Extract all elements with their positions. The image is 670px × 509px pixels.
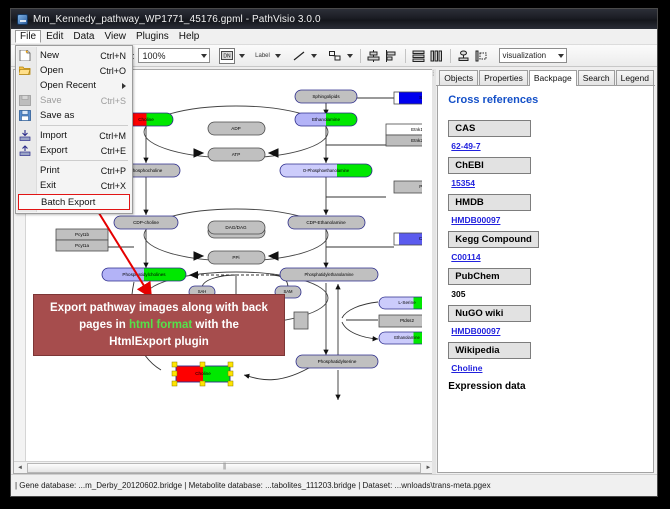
toolbar-separator-1: [360, 49, 361, 63]
file-menu-exit[interactable]: Exit Ctrl+X: [16, 178, 132, 193]
group-icon[interactable]: [474, 48, 490, 64]
zoom-combobox[interactable]: 100%: [138, 48, 210, 63]
file-menu-dropdown[interactable]: New Ctrl+N Open Ctrl+O Open Recent Save: [15, 45, 133, 214]
svg-text:ADP: ADP: [231, 126, 240, 131]
node-etnk1[interactable]: Etnk1: [386, 124, 422, 135]
chevron-down-icon: [201, 54, 207, 58]
tab-search[interactable]: Search: [578, 70, 615, 85]
svg-text:Ethanolamine: Ethanolamine: [312, 117, 341, 122]
xref-hmdb: HMDB HMDB00097: [448, 194, 645, 225]
tab-backpage[interactable]: Backpage: [529, 70, 577, 86]
file-menu-open[interactable]: Open Ctrl+O: [16, 63, 132, 78]
node-grey-box[interactable]: [294, 312, 308, 329]
tab-objects[interactable]: Objects: [439, 70, 478, 85]
xref-link[interactable]: HMDB00097: [451, 326, 500, 336]
svg-text:Phosphocholine: Phosphocholine: [130, 168, 163, 173]
node-l-serine[interactable]: L-Serine: [379, 297, 422, 309]
datanode-tool-split[interactable]: DN: [218, 48, 245, 64]
file-menu-import-shortcut: Ctrl+M: [99, 131, 126, 141]
xref-kegg-compound: Kegg Compound C00114: [448, 231, 645, 262]
line-tool-split[interactable]: [290, 48, 317, 64]
shape-icon[interactable]: [327, 48, 343, 64]
visualization-value: visualization: [503, 51, 547, 60]
file-menu-new-label: New: [40, 50, 100, 61]
file-menu-save-shortcut: Ctrl+S: [101, 96, 126, 106]
xref-value[interactable]: HMDB00097: [451, 326, 645, 336]
node-o-phosphoethanolamine[interactable]: O-Phosphoethanolamine: [280, 164, 372, 177]
node-phosphatidylethanolamine[interactable]: Phosphatidylethanolamine: [280, 268, 378, 281]
svg-text:L-Serine: L-Serine: [398, 300, 416, 305]
node-ptdss2[interactable]: Ptdss2: [379, 315, 422, 327]
file-menu-new-shortcut: Ctrl+N: [100, 51, 126, 61]
svg-text:Choline: Choline: [195, 371, 211, 376]
datanode-icon[interactable]: DN: [219, 48, 235, 64]
xref-source-label: CAS: [448, 120, 531, 137]
svg-text:Pcyt2: Pcyt2: [419, 184, 422, 189]
file-menu-batch-export-label: Batch Export: [41, 197, 123, 208]
file-menu-export-label: Export: [40, 145, 101, 156]
xref-wikipedia: Wikipedia Choline: [448, 342, 645, 373]
xref-value[interactable]: Choline: [451, 363, 645, 373]
annotation-line-2-post: with the: [192, 319, 239, 331]
xref-cas: CAS 62-49-7: [448, 120, 645, 151]
xref-source-label: HMDB: [448, 194, 531, 211]
svg-text:DN: DN: [223, 54, 231, 60]
visualization-combobox[interactable]: visualization: [499, 48, 567, 63]
node-pcyt1b[interactable]: Pcyt1b: [56, 229, 108, 240]
file-menu-print-label: Print: [40, 165, 101, 176]
file-menu-open-recent[interactable]: Open Recent: [16, 78, 132, 93]
node-ethanolamine[interactable]: Ethanolamine: [295, 113, 357, 126]
menu-plugins[interactable]: Plugins: [131, 30, 174, 43]
line-chevron-down-icon[interactable]: [311, 54, 317, 58]
svg-text:CDP-choline: CDP-choline: [133, 220, 159, 225]
node-cdp-ethanolamine[interactable]: CDP-Ethanolamine: [288, 216, 365, 229]
svg-text:Pcyt1b: Pcyt1b: [75, 232, 89, 237]
node-pcyt2[interactable]: Pcyt2: [394, 181, 422, 193]
annotation-line-3: HtmlExport plugin: [109, 334, 209, 351]
submenu-chevron-right-icon: [122, 83, 126, 89]
svg-text:Phosphatidylethanolamine: Phosphatidylethanolamine: [304, 272, 354, 277]
align-center-icon[interactable]: [366, 48, 382, 64]
file-menu-save-label: Save: [40, 95, 101, 106]
zoom-value: 100%: [143, 51, 166, 61]
menubar: File Edit Data View Plugins Help: [11, 29, 657, 45]
xref-source-label: Kegg Compound: [448, 231, 539, 248]
node-atp[interactable]: ATP: [208, 148, 265, 161]
svg-text:Sphingolipids: Sphingolipids: [312, 94, 340, 99]
import-icon: [19, 130, 31, 141]
xref-nugo-wiki: NuGO wiki HMDB00097: [448, 305, 645, 336]
datanode-chevron-down-icon[interactable]: [239, 54, 245, 58]
file-menu-exit-label: Exit: [40, 180, 101, 191]
new-document-icon: [19, 50, 31, 61]
window-titlebar: Mm_Kennedy_pathway_WP1771_45176.gpml - P…: [11, 9, 657, 29]
annotation-line-1: Export pathway images along with back: [50, 300, 268, 317]
file-menu-save: Save Ctrl+S: [16, 93, 132, 108]
svg-text:PPi: PPi: [232, 255, 239, 260]
file-menu-import[interactable]: Import Ctrl+M: [16, 128, 132, 143]
annotation-callout: Export pathway images along with back pa…: [33, 294, 285, 356]
statusbar-text: | Gene database: ...m_Derby_20120602.bri…: [15, 481, 491, 490]
xref-source-label: ChEBI: [448, 157, 531, 174]
screenshot-root: Mm_Kennedy_pathway_WP1771_45176.gpml - P…: [0, 0, 670, 509]
file-menu-export-shortcut: Ctrl+E: [101, 146, 126, 156]
file-menu-save-as-label: Save as: [40, 110, 126, 121]
xref-value[interactable]: 62-49-7: [451, 141, 645, 151]
scroll-thumb[interactable]: [27, 463, 421, 473]
svg-text:Ptdss2: Ptdss2: [400, 318, 414, 323]
file-menu-open-recent-label: Open Recent: [40, 80, 122, 91]
annotation-line-2-pre: pages in: [79, 319, 129, 331]
file-menu-new[interactable]: New Ctrl+N: [16, 48, 132, 63]
svg-text:ATP: ATP: [232, 152, 241, 157]
file-menu-exit-shortcut: Ctrl+X: [101, 181, 126, 191]
backpage-title: Cross references: [448, 94, 645, 106]
pathvisio-icon: [17, 14, 28, 25]
pathvisio-window: Mm_Kennedy_pathway_WP1771_45176.gpml - P…: [10, 8, 658, 497]
align-left-icon[interactable]: [384, 48, 400, 64]
distribute-horizontal-icon[interactable]: [429, 48, 445, 64]
file-menu-print[interactable]: Print Ctrl+P: [16, 163, 132, 178]
menu-edit[interactable]: Edit: [41, 30, 68, 43]
xref-source-label: PubChem: [448, 268, 531, 285]
xref-link[interactable]: 62-49-7: [451, 141, 480, 151]
file-menu-open-label: Open: [40, 65, 100, 76]
xref-value[interactable]: C00114: [451, 252, 645, 262]
svg-text:Phosphatidylcholines: Phosphatidylcholines: [122, 272, 166, 277]
file-menu-save-as[interactable]: Save as: [16, 108, 132, 123]
svg-text:Pcyt1a: Pcyt1a: [75, 243, 89, 248]
menu-view[interactable]: View: [99, 30, 131, 43]
toolbar-separator-2: [405, 49, 406, 63]
node-dag-dag[interactable]: DAG/DAG: [208, 221, 265, 234]
scroll-left-icon[interactable]: ◄: [14, 462, 26, 473]
file-menu-print-shortcut: Ctrl+P: [101, 166, 126, 176]
xref-source-label: NuGO wiki: [448, 305, 531, 322]
open-folder-icon: [19, 65, 31, 76]
xref-value[interactable]: 15354: [451, 178, 645, 188]
sidebar-splitter[interactable]: [432, 69, 436, 474]
node-ethanolamine-right[interactable]: Ethanolamine: [379, 332, 422, 344]
shape-chevron-down-icon[interactable]: [347, 54, 353, 58]
save-as-icon: [19, 110, 31, 121]
toolbar-separator-3: [450, 49, 451, 63]
annotation-line-2-highlight: html format: [129, 319, 192, 331]
node-ppi[interactable]: PPi: [208, 251, 265, 264]
export-icon: [19, 145, 31, 156]
shape-tool-split[interactable]: [326, 48, 353, 64]
node-cdp-choline[interactable]: CDP-choline: [114, 216, 178, 229]
line-icon[interactable]: [291, 48, 307, 64]
xref-link[interactable]: C00114: [451, 252, 480, 262]
svg-text:CDP-Ethanolamine: CDP-Ethanolamine: [306, 220, 346, 225]
svg-text:Sgpl1: Sgpl1: [419, 95, 422, 100]
stack-icon[interactable]: [456, 48, 472, 64]
tab-legend[interactable]: Legend: [616, 70, 654, 85]
statusbar: | Gene database: ...m_Derby_20120602.bri…: [11, 474, 657, 496]
file-menu-batch-export[interactable]: Batch Export: [18, 194, 130, 210]
node-phosphatidylcholines[interactable]: Phosphatidylcholines: [102, 268, 186, 281]
tab-properties[interactable]: Properties: [479, 70, 528, 85]
file-menu-import-label: Import: [40, 130, 99, 141]
label-tool-split[interactable]: Label: [254, 48, 281, 64]
menu-data[interactable]: Data: [68, 30, 99, 43]
file-menu-separator-2: [40, 160, 128, 161]
backpage-panel: Cross references CAS 62-49-7 ChEBI 15354…: [437, 86, 654, 473]
menu-file[interactable]: File: [15, 30, 41, 43]
svg-text:O-Phosphoethanolamine: O-Phosphoethanolamine: [303, 168, 350, 173]
node-pcyt1a[interactable]: Pcyt1a: [56, 240, 108, 251]
save-icon: [19, 95, 31, 106]
node-cept1[interactable]: Cept1: [394, 233, 422, 245]
svg-text:DAG/DAG: DAG/DAG: [225, 225, 247, 230]
menu-help[interactable]: Help: [174, 30, 205, 43]
annotation-line-2: pages in html format with the: [79, 317, 239, 334]
xref-link[interactable]: Choline: [451, 363, 482, 373]
xref-source-label: Wikipedia: [448, 342, 531, 359]
xref-link[interactable]: HMDB00097: [451, 215, 500, 225]
svg-text:Phosphatidylserine: Phosphatidylserine: [318, 359, 357, 364]
visualization-chevron-down-icon: [558, 54, 564, 58]
file-menu-open-shortcut: Ctrl+O: [100, 66, 126, 76]
right-sidebar: Objects Properties Backpage Search Legen…: [436, 69, 655, 474]
xref-value[interactable]: HMDB00097: [451, 215, 645, 225]
svg-text:Ethanolamine: Ethanolamine: [394, 335, 420, 340]
node-phosphatidylserine[interactable]: Phosphatidylserine: [296, 355, 378, 368]
node-sgpl1[interactable]: Sgpl1: [394, 92, 422, 104]
node-sphingolipids[interactable]: Sphingolipids: [295, 90, 357, 103]
node-choline-selected[interactable]: Choline: [172, 362, 233, 386]
distribute-vertical-icon[interactable]: [411, 48, 427, 64]
label-chevron-down-icon[interactable]: [275, 54, 281, 58]
xref-link[interactable]: 15354: [451, 178, 475, 188]
node-adp[interactable]: ADP: [208, 122, 265, 135]
xref-pubchem: PubChem 305: [448, 268, 645, 299]
node-etnk2[interactable]: Etnk2: [386, 135, 422, 146]
svg-text:Cept1: Cept1: [419, 236, 422, 241]
expression-data-title: Expression data: [448, 381, 645, 392]
file-menu-export[interactable]: Export Ctrl+E: [16, 143, 132, 158]
xref-chebi: ChEBI 15354: [448, 157, 645, 188]
file-menu-separator-1: [40, 125, 128, 126]
sidebar-tabstrip: Objects Properties Backpage Search Legen…: [436, 69, 655, 86]
canvas-horizontal-scrollbar[interactable]: ◄ ►: [14, 461, 434, 473]
label-icon[interactable]: Label: [255, 48, 271, 64]
xref-value: 305: [451, 289, 645, 299]
svg-text:Etnk1: Etnk1: [411, 127, 422, 132]
window-title: Mm_Kennedy_pathway_WP1771_45176.gpml - P…: [33, 14, 321, 25]
svg-text:Etnk2: Etnk2: [411, 138, 422, 143]
svg-text:Choline: Choline: [138, 117, 154, 122]
